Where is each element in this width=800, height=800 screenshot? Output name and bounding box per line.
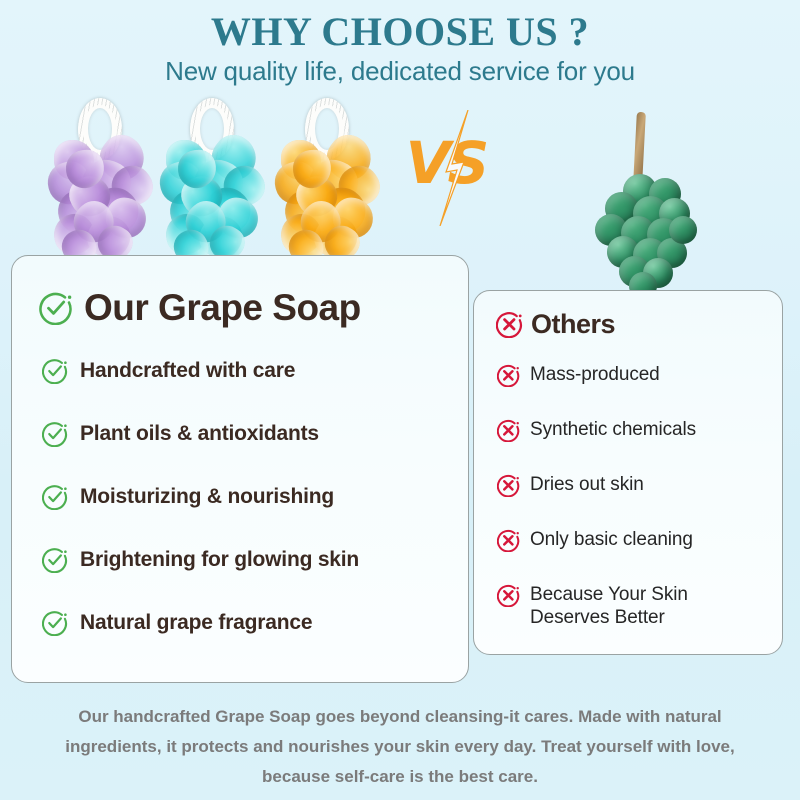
soap-cluster [48, 136, 152, 258]
list-item: Synthetic chemicals [497, 418, 772, 473]
x-circle-icon [496, 311, 523, 338]
our-product-card: Our Grape Soap Handcrafted with care Pla… [11, 255, 469, 683]
real-green-grapes [583, 112, 703, 297]
teal-grape-soap [160, 98, 264, 258]
list-item: Only basic cleaning [497, 528, 772, 583]
others-drawbacks-list: Mass-produced Synthetic chemicals Dries … [497, 363, 772, 638]
check-circle-icon [42, 610, 68, 636]
check-circle-icon [42, 547, 68, 573]
check-circle-icon [39, 291, 73, 325]
our-benefits-list: Handcrafted with care Plant oils & antio… [42, 356, 452, 671]
our-card-header: Our Grape Soap [39, 287, 361, 329]
page-title: WHY CHOOSE US ? [0, 8, 800, 55]
list-item-label: Synthetic chemicals [520, 418, 696, 441]
grape-berry [669, 216, 697, 244]
others-card-header: Others [496, 309, 615, 340]
list-item-label: Because Your SkinDeserves Better [520, 583, 688, 629]
versus-badge: VS [398, 112, 494, 224]
x-circle-icon [497, 364, 520, 387]
list-item: Mass-produced [497, 363, 772, 418]
list-item-label: Plant oils & antioxidants [68, 419, 319, 449]
list-item: Moisturizing & nourishing [42, 482, 452, 545]
soap-cluster [275, 136, 379, 258]
list-item-label: Mass-produced [520, 363, 660, 386]
purple-grape-soap [48, 98, 152, 258]
list-item: Natural grape fragrance [42, 608, 452, 671]
x-circle-icon [497, 474, 520, 497]
list-item: Dries out skin [497, 473, 772, 528]
list-item-label: Moisturizing & nourishing [68, 482, 334, 512]
list-item: Plant oils & antioxidants [42, 419, 452, 482]
list-item-label: Natural grape fragrance [68, 608, 312, 638]
list-item-label: Brightening for glowing skin [68, 545, 359, 575]
others-card-title: Others [523, 309, 615, 340]
list-item: Handcrafted with care [42, 356, 452, 419]
others-card: Others Mass-produced Synthetic chemicals… [473, 290, 783, 655]
infographic-root: WHY CHOOSE US ? New quality life, dedica… [0, 0, 800, 800]
x-circle-icon [497, 419, 520, 442]
orange-grape-soap [275, 98, 379, 258]
footer-description: Our handcrafted Grape Soap goes beyond c… [60, 702, 740, 792]
list-item: Because Your SkinDeserves Better [497, 583, 772, 638]
our-card-title: Our Grape Soap [73, 287, 361, 329]
list-item: Brightening for glowing skin [42, 545, 452, 608]
soap-cluster [160, 136, 264, 258]
check-circle-icon [42, 484, 68, 510]
page-subtitle: New quality life, dedicated service for … [0, 56, 800, 87]
check-circle-icon [42, 421, 68, 447]
x-circle-icon [497, 584, 520, 607]
list-item-label: Handcrafted with care [68, 356, 295, 386]
check-circle-icon [42, 358, 68, 384]
list-item-label: Only basic cleaning [520, 528, 693, 551]
lightning-bolt-icon [438, 110, 474, 226]
list-item-label: Dries out skin [520, 473, 644, 496]
x-circle-icon [497, 529, 520, 552]
